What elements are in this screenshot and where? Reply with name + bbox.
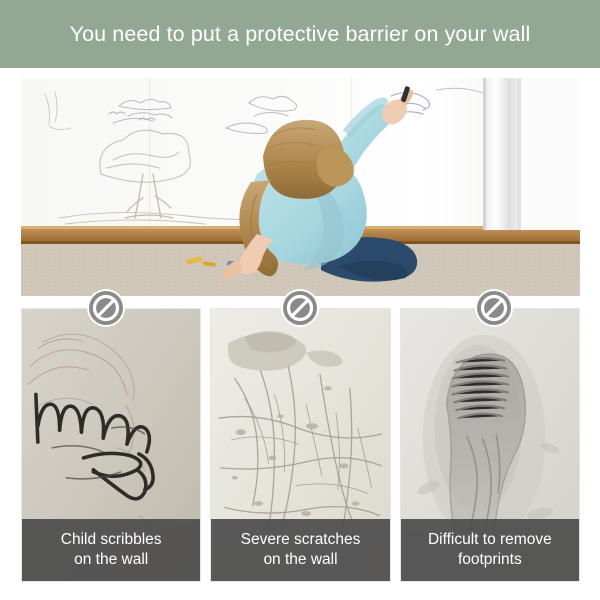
caption-line-1: Severe scratches <box>241 530 361 550</box>
page-title: You need to put a protective barrier on … <box>70 22 531 47</box>
panel-caption: Severe scratches on the wall <box>211 519 389 581</box>
prohibition-icon <box>281 289 319 327</box>
panel-caption: Difficult to remove footprints <box>401 519 579 581</box>
caption-line-1: Child scribbles <box>61 530 162 550</box>
panel-caption: Child scribbles on the wall <box>22 519 200 581</box>
caption-line-2: on the wall <box>263 550 337 570</box>
header-banner: You need to put a protective barrier on … <box>0 0 600 68</box>
product-infographic-page: You need to put a protective barrier on … <box>0 0 600 600</box>
panel-footprints: Difficult to remove footprints <box>400 308 580 582</box>
hero-photo <box>21 78 580 296</box>
child-drawing-on-wall-illustration <box>21 78 580 296</box>
caption-line-2: on the wall <box>74 550 148 570</box>
panel-severe-scratches: Severe scratches on the wall <box>210 308 390 582</box>
prohibition-icon <box>87 289 125 327</box>
problem-panels-row: Child scribbles on the wall <box>21 308 580 582</box>
prohibition-icon <box>475 289 513 327</box>
caption-line-2: footprints <box>458 550 522 570</box>
panel-child-scribbles: Child scribbles on the wall <box>21 308 201 582</box>
caption-line-1: Difficult to remove <box>428 530 552 550</box>
